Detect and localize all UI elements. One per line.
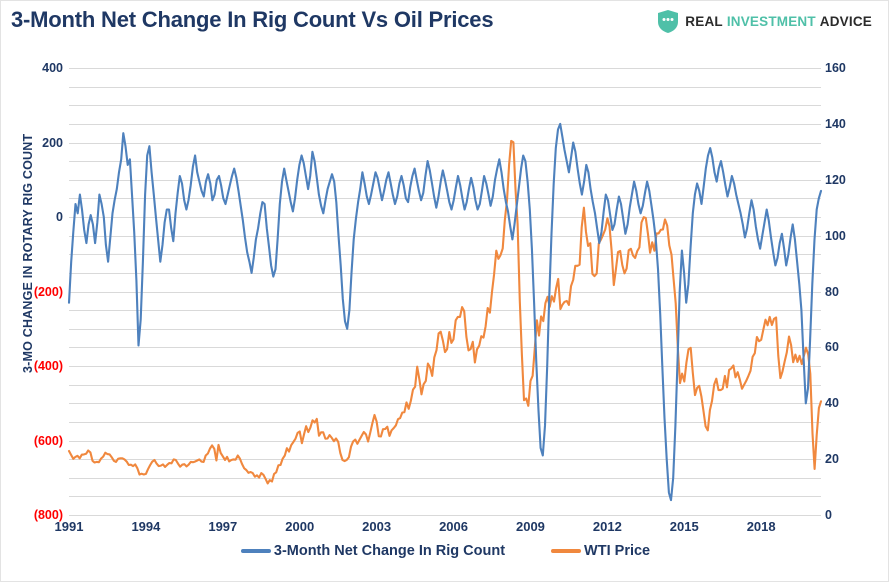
x-axis-line <box>69 515 821 516</box>
left-axis-tick: (400) <box>9 360 63 373</box>
right-axis-tick: 80 <box>825 286 859 299</box>
plot-container: 3-MO CHANGE IN ROTARY RIG COUNT 4002000(… <box>1 1 889 583</box>
plot-area <box>69 68 821 515</box>
x-axis-tick: 2009 <box>500 520 560 533</box>
x-axis-tick: 2012 <box>577 520 637 533</box>
left-axis-title: 3-MO CHANGE IN ROTARY RIG COUNT <box>21 143 35 373</box>
x-axis-tick: 2003 <box>347 520 407 533</box>
left-axis-tick: (600) <box>9 435 63 448</box>
x-axis-tick: 1991 <box>39 520 99 533</box>
x-axis-tick: 1997 <box>193 520 253 533</box>
x-axis-tick: 2000 <box>270 520 330 533</box>
left-axis-tick: (200) <box>9 286 63 299</box>
x-axis-tick: 1994 <box>116 520 176 533</box>
legend-label-wti-price: WTI Price <box>584 543 650 559</box>
legend-item-rig-count[interactable]: 3-Month Net Change In Rig Count <box>241 543 505 559</box>
right-axis-tick: 140 <box>825 118 859 131</box>
right-axis-tick: 100 <box>825 230 859 243</box>
right-axis-tick: 160 <box>825 62 859 75</box>
left-axis-tick: 0 <box>9 211 63 224</box>
legend-item-wti-price[interactable]: WTI Price <box>551 543 650 559</box>
series-canvas <box>69 68 821 515</box>
right-axis-tick: 120 <box>825 174 859 187</box>
legend-swatch-wti-price <box>551 549 581 553</box>
right-axis-tick: 40 <box>825 397 859 410</box>
right-axis-tick: 20 <box>825 453 859 466</box>
right-axis-tick: 0 <box>825 509 859 522</box>
left-axis: 3-MO CHANGE IN ROTARY RIG COUNT 4002000(… <box>1 1 63 583</box>
legend-label-rig-count: 3-Month Net Change In Rig Count <box>274 543 505 559</box>
chart-legend: 3-Month Net Change In Rig Count WTI Pric… <box>1 543 889 559</box>
left-axis-tick: 200 <box>9 137 63 150</box>
right-axis: WTI OIL PRICE 160140120100806040200 <box>825 1 865 583</box>
right-axis-tick: 60 <box>825 341 859 354</box>
series-line-wti-price <box>69 141 821 484</box>
chart-frame: 3-Month Net Change In Rig Count Vs Oil P… <box>0 0 889 582</box>
x-axis-tick: 2006 <box>424 520 484 533</box>
x-axis-tick: 2015 <box>654 520 714 533</box>
x-axis-tick: 2018 <box>731 520 791 533</box>
legend-swatch-rig-count <box>241 549 271 553</box>
series-line-rig-count <box>69 124 821 500</box>
left-axis-tick: 400 <box>9 62 63 75</box>
